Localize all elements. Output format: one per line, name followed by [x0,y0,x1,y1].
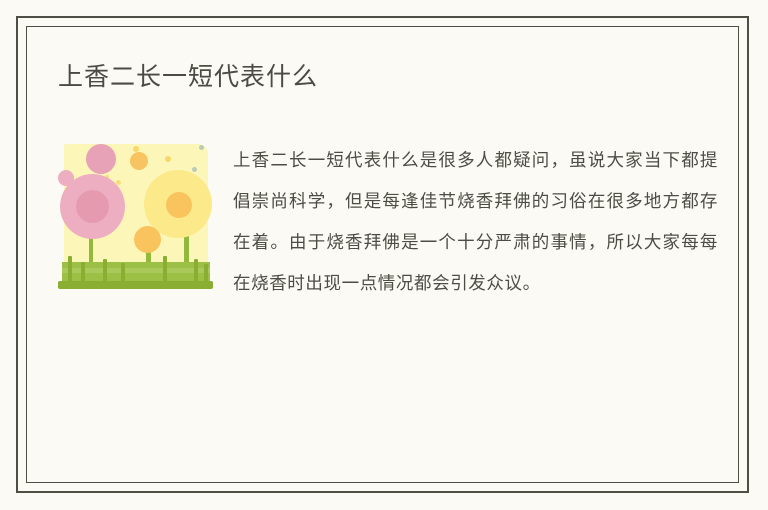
orange-blossom-icon [130,152,148,170]
grass-blade-icon [68,256,72,282]
yellow-blossom-center-icon [166,192,192,218]
grass-blade-icon [163,256,167,282]
grass-blade-icon [204,264,208,282]
article-illustration [58,144,213,294]
green-speck-icon [199,145,204,150]
article-header: 上香二长一短代表什么 [58,60,718,94]
pink-blossom-center-icon [76,190,109,223]
page-title: 上香二长一短代表什么 [58,60,718,94]
ground-bar [58,281,213,289]
orange-blossom-icon [134,226,161,253]
grass-blade-icon [81,262,85,282]
pink-blossom-icon [86,144,116,174]
article-body-block: 上香二长一短代表什么是很多人都疑问，虽说大家当下都提倡崇尚科学，但是每逢佳节烧香… [58,140,718,304]
yellow-speck-icon [165,156,171,162]
article-page: 上香二长一短代表什么 [0,0,768,510]
grass-blade-icon [194,259,198,282]
grass-blade-icon [103,259,107,282]
grass-blade-icon [121,263,125,282]
green-speck-icon [192,167,197,172]
